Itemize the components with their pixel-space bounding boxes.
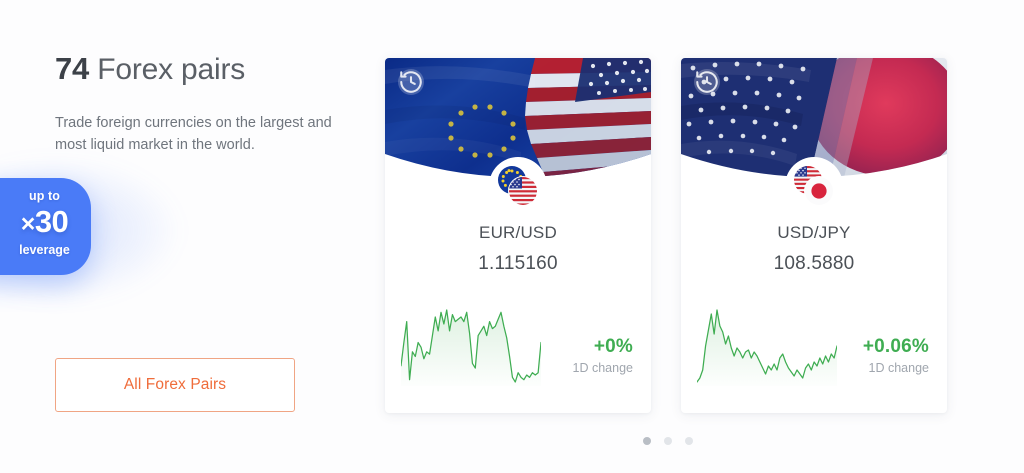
forex-cards-carousel: EUR/USD 1.115160 +0% 1D change xyxy=(385,58,950,418)
pair-name: EUR/USD xyxy=(385,223,651,243)
all-forex-pairs-button[interactable]: All Forex Pairs xyxy=(55,358,295,412)
change-block: +0% 1D change xyxy=(573,336,633,375)
carousel-pagination xyxy=(385,437,950,445)
forex-card[interactable]: EUR/USD 1.115160 +0% 1D change xyxy=(385,58,651,413)
multiply-symbol: × xyxy=(21,210,35,238)
forex-card[interactable]: USD/JPY 108.5880 +0.06% 1D change xyxy=(681,58,947,413)
pagination-dot[interactable] xyxy=(664,437,672,445)
price-sparkline xyxy=(401,306,541,386)
pair-name: USD/JPY xyxy=(681,223,947,243)
history-clock-icon[interactable] xyxy=(694,69,720,95)
leverage-value: ×30 xyxy=(0,204,91,242)
leverage-badge: up to ×30 leverage xyxy=(0,178,91,275)
currency-pair-flags xyxy=(785,157,843,215)
leverage-top-label: up to xyxy=(0,189,91,203)
leverage-bottom-label: leverage xyxy=(0,243,91,257)
pagination-dot[interactable] xyxy=(643,437,651,445)
page-title: 74 Forex pairs xyxy=(55,50,245,89)
leverage-number: 30 xyxy=(35,204,68,239)
pagination-dot[interactable] xyxy=(685,437,693,445)
change-period-label: 1D change xyxy=(863,361,929,375)
currency-pair-flags xyxy=(489,157,547,215)
page-title-rest: Forex pairs xyxy=(89,53,245,86)
pair-price: 1.115160 xyxy=(385,253,651,275)
pair-count: 74 xyxy=(55,51,89,86)
change-block: +0.06% 1D change xyxy=(863,336,929,375)
history-clock-icon[interactable] xyxy=(398,69,424,95)
change-percent: +0.06% xyxy=(863,336,929,358)
pair-price: 108.5880 xyxy=(681,253,947,275)
hero-description: Trade foreign currencies on the largest … xyxy=(55,112,335,156)
price-sparkline xyxy=(697,306,837,386)
hero-left-column: 74 Forex pairs Trade foreign currencies … xyxy=(0,0,370,473)
change-period-label: 1D change xyxy=(573,361,633,375)
change-percent: +0% xyxy=(573,336,633,358)
